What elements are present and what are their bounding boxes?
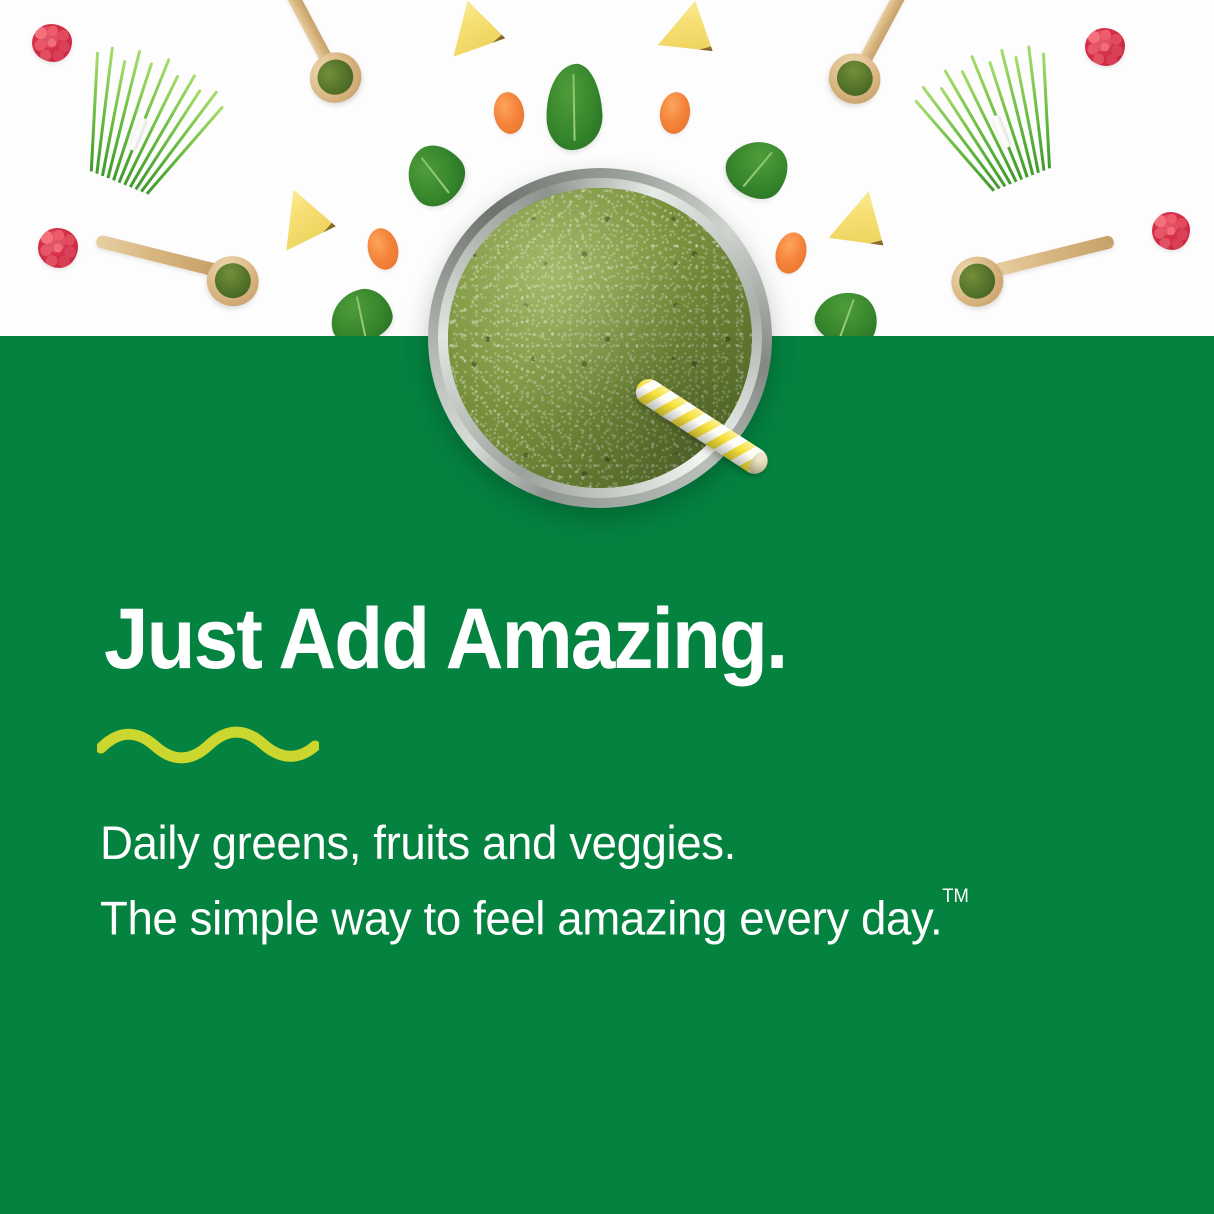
subhead-line-2-text: The simple way to feel amazing every day… <box>100 892 942 945</box>
wavy-underline-icon <box>97 726 319 764</box>
smoothie-glass <box>428 168 772 508</box>
subhead: Daily greens, fruits and veggies. The si… <box>100 808 1160 954</box>
subhead-line-2: The simple way to feel amazing every day… <box>100 878 1128 954</box>
subhead-line-1: Daily greens, fruits and veggies. <box>100 808 1128 878</box>
page-title: Just Add Amazing. <box>104 596 786 682</box>
trademark-mark: TM <box>942 886 969 907</box>
promo-banner: Just Add Amazing. Daily greens, fruits a… <box>0 0 1214 1214</box>
